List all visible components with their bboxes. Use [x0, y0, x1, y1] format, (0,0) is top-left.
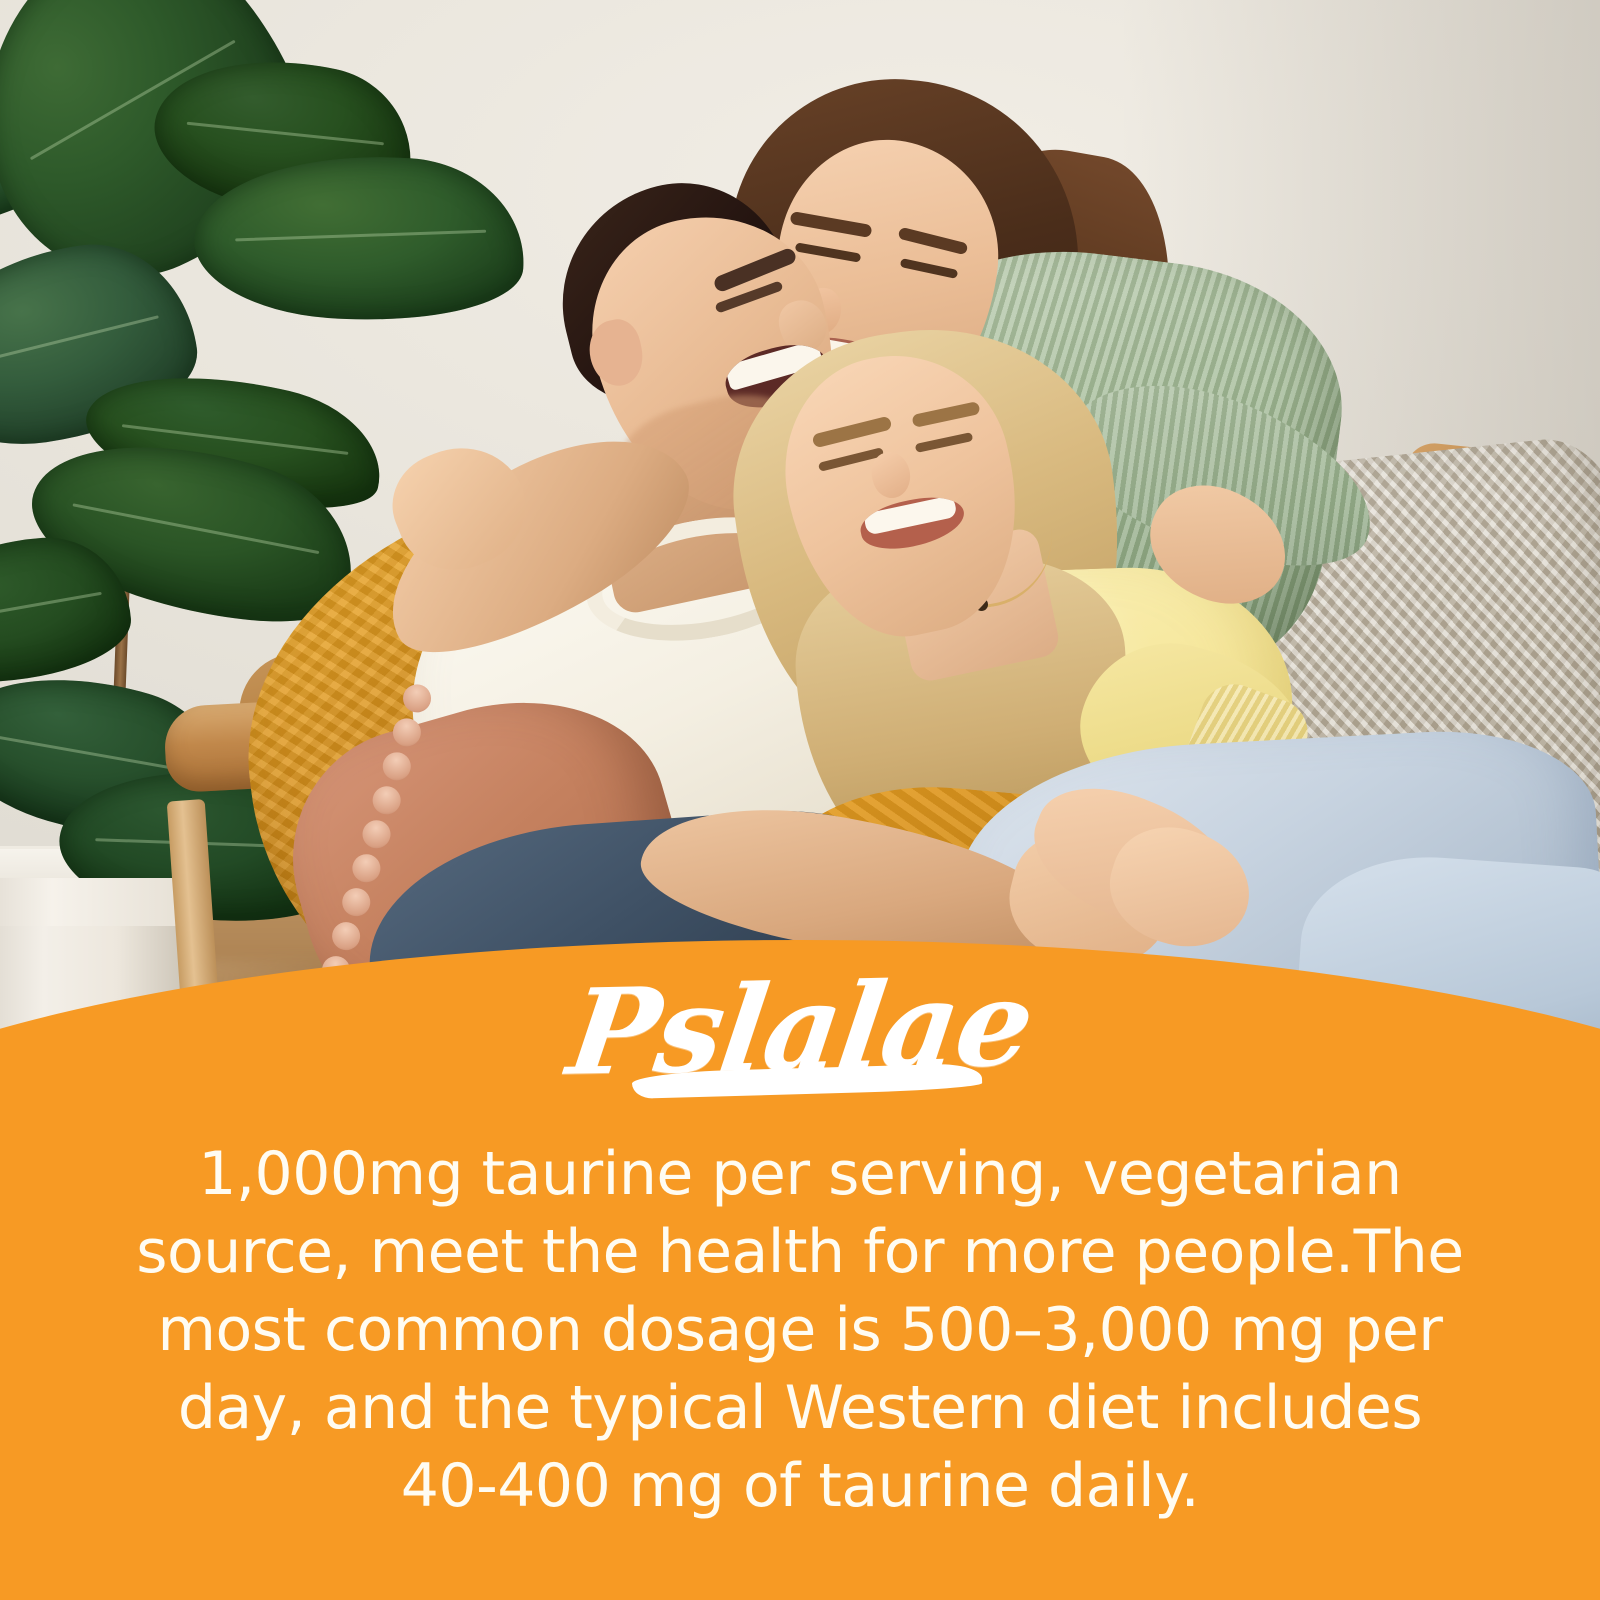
pompom [337, 883, 376, 922]
orange-info-panel: Pslalae 1,000mg taurine per serving, veg… [0, 940, 1600, 1600]
plant-pot-rim [0, 878, 190, 926]
pompom [367, 781, 406, 820]
product-promo-poster: Pslalae 1,000mg taurine per serving, veg… [0, 0, 1600, 1600]
pompom [377, 747, 416, 786]
pompom [388, 713, 427, 752]
product-description-text: 1,000mg taurine per serving, vegetarian … [60, 1135, 1540, 1525]
pompom [347, 849, 386, 888]
pompom [398, 679, 437, 718]
pompom [357, 815, 396, 854]
